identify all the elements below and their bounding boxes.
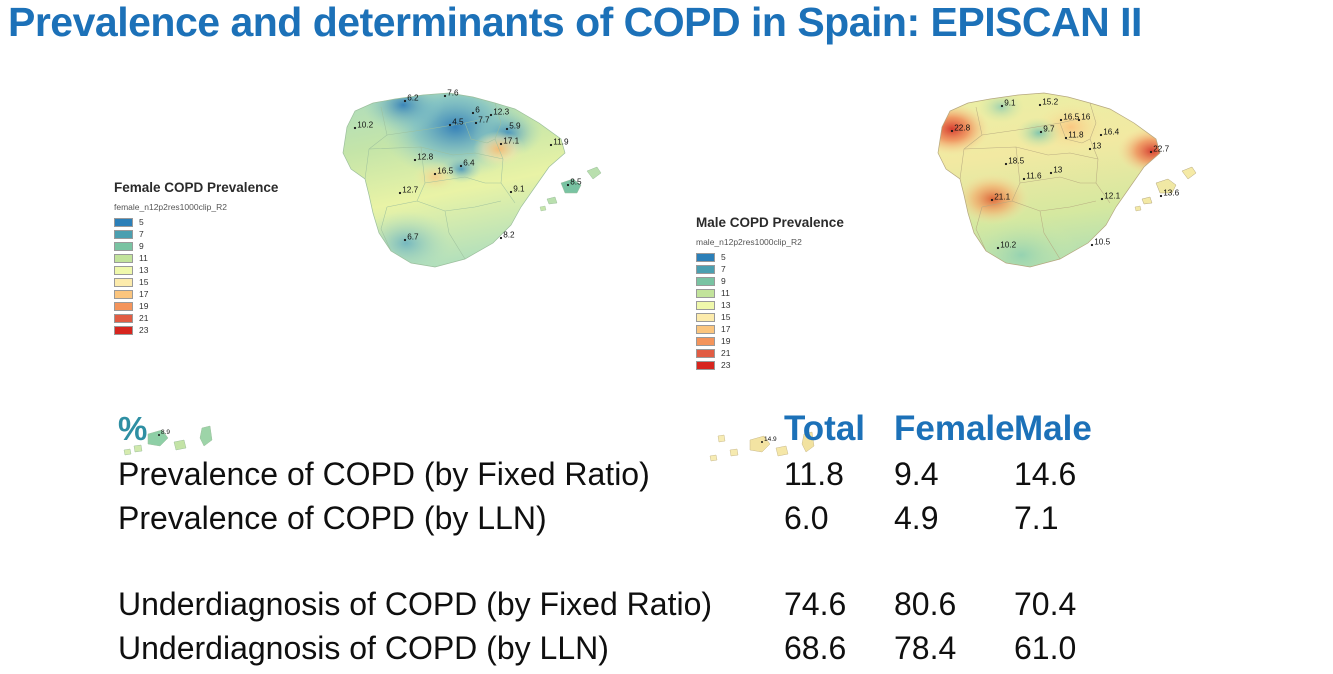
legend-row: 13: [114, 265, 278, 276]
row-male-value: 7.1: [1014, 496, 1124, 540]
map-point-value: 16: [1081, 112, 1091, 121]
map-point-marker: [567, 184, 569, 186]
map-point-marker: [434, 173, 436, 175]
map-point-marker: [1060, 119, 1062, 121]
map-point-value: 13: [1053, 165, 1063, 174]
map-point-value: 10.5: [1094, 237, 1110, 246]
map-point-marker: [1001, 105, 1003, 107]
map-point-value: 11.6: [1026, 171, 1042, 180]
map-point-value: 8.5: [570, 177, 582, 186]
map-point-marker: [404, 100, 406, 102]
legend-value-label: 9: [721, 277, 726, 286]
map-point-value: 7.6: [447, 88, 459, 97]
map-point-value: 22.8: [954, 123, 970, 132]
legend-row: 9: [696, 276, 844, 287]
map-point-marker: [510, 191, 512, 193]
legend-row: 11: [696, 288, 844, 299]
female-prevalence-map: 10.26.27.664.57.712.35.917.111.912.816.5…: [325, 83, 615, 283]
row-male-value: 14.6: [1014, 452, 1124, 496]
row-total-value: 74.6: [784, 582, 894, 626]
map-point-value: 21.1: [994, 192, 1010, 201]
map-point-value: 9.7: [1043, 124, 1055, 133]
row-female-value: 4.9: [894, 496, 1014, 540]
map-point-value: 10.2: [1000, 240, 1016, 249]
legend-color-swatch: [114, 314, 133, 324]
map-point-value: 15.2: [1042, 97, 1058, 106]
map-point-value: 12.1: [1104, 191, 1120, 200]
legend-color-swatch: [696, 253, 715, 263]
map-point-value: 5.9: [509, 121, 521, 130]
percent-cell: %: [118, 408, 784, 450]
legend-row: 7: [696, 264, 844, 275]
map-point-marker: [444, 95, 446, 97]
map-point-value: 12.7: [402, 185, 418, 194]
legend-value-label: 15: [721, 313, 730, 322]
table-row: Underdiagnosis of COPD (by Fixed Ratio) …: [118, 582, 1128, 626]
legend-color-swatch: [114, 278, 133, 288]
map-point-value: 6.4: [463, 158, 475, 167]
map-point-value: 11.9: [553, 137, 569, 146]
map-point-value: 4.5: [452, 117, 464, 126]
legend-row: 15: [114, 277, 278, 288]
row-label: Underdiagnosis of COPD (by Fixed Ratio): [118, 582, 784, 626]
legend-color-swatch: [696, 349, 715, 359]
map-point-marker: [414, 159, 416, 161]
row-label: Underdiagnosis of COPD (by LLN): [118, 626, 784, 670]
map-point-marker: [991, 199, 993, 201]
legend-value-label: 13: [721, 301, 730, 310]
map-point-value: 7.7: [478, 115, 490, 124]
legend-color-swatch: [696, 301, 715, 311]
legend-value-label: 17: [721, 325, 730, 334]
map-point-marker: [1005, 163, 1007, 165]
map-point-value: 12.8: [417, 152, 433, 161]
female-legend-title: Female COPD Prevalence: [114, 180, 278, 195]
map-point-value: 10.2: [357, 120, 373, 129]
legend-color-swatch: [114, 218, 133, 228]
summary-table: % Total Female Male Prevalence of COPD (…: [118, 408, 1128, 670]
legend-value-label: 17: [139, 290, 148, 299]
legend-row: 19: [696, 336, 844, 347]
row-male-value: 61.0: [1014, 626, 1124, 670]
map-point-marker: [1101, 198, 1103, 200]
table-row: Prevalence of COPD (by LLN) 6.0 4.9 7.1: [118, 496, 1128, 540]
map-point-value: 8.2: [503, 230, 515, 239]
map-point-marker: [1039, 104, 1041, 106]
map-point-marker: [1091, 244, 1093, 246]
page-title: Prevalence and determinants of COPD in S…: [8, 0, 1333, 48]
row-total-value: 68.6: [784, 626, 894, 670]
map-point-value: 6.2: [407, 93, 419, 102]
legend-value-label: 19: [721, 337, 730, 346]
female-map-panel: Female COPD Prevalence female_n12p2res10…: [100, 85, 620, 385]
map-point-marker: [404, 239, 406, 241]
map-point-marker: [500, 143, 502, 145]
map-point-marker: [1078, 119, 1080, 121]
column-header-male: Male: [1014, 408, 1124, 450]
map-point-marker: [506, 128, 508, 130]
legend-color-swatch: [114, 266, 133, 276]
map-point-value: 6.7: [407, 232, 419, 241]
legend-color-swatch: [114, 254, 133, 264]
map-point-marker: [399, 192, 401, 194]
legend-value-label: 11: [721, 289, 730, 298]
column-header-female: Female: [894, 408, 1014, 450]
legend-value-label: 9: [139, 242, 144, 251]
map-point-marker: [1065, 137, 1067, 139]
map-point-marker: [1100, 134, 1102, 136]
map-point-value: 13.6: [1163, 188, 1179, 197]
male-map-panel: Male COPD Prevalence male_n12p2res1000cl…: [680, 85, 1210, 385]
legend-color-swatch: [114, 326, 133, 336]
legend-color-swatch: [696, 361, 715, 371]
legend-value-label: 19: [139, 302, 148, 311]
row-label: Prevalence of COPD (by Fixed Ratio): [118, 452, 784, 496]
legend-row: 11: [114, 253, 278, 264]
map-point-marker: [472, 112, 474, 114]
map-point-marker: [1150, 151, 1152, 153]
row-female-value: 78.4: [894, 626, 1014, 670]
map-point-marker: [997, 247, 999, 249]
row-label: Prevalence of COPD (by LLN): [118, 496, 784, 540]
map-point-value: 17.1: [503, 136, 519, 145]
map-point-value: 22.7: [1153, 144, 1169, 153]
map-point-marker: [951, 130, 953, 132]
row-female-value: 9.4: [894, 452, 1014, 496]
table-row: Underdiagnosis of COPD (by LLN) 68.6 78.…: [118, 626, 1128, 670]
row-male-value: 70.4: [1014, 582, 1124, 626]
legend-row: 19: [114, 301, 278, 312]
legend-row: 21: [696, 348, 844, 359]
map-point-marker: [354, 127, 356, 129]
row-total-value: 11.8: [784, 452, 894, 496]
map-point-value: 16.5: [1063, 112, 1079, 121]
legend-color-swatch: [696, 325, 715, 335]
map-point-marker: [475, 122, 477, 124]
legend-value-label: 15: [139, 278, 148, 287]
legend-value-label: 13: [139, 266, 148, 275]
legend-row: 21: [114, 313, 278, 324]
table-row: Prevalence of COPD (by Fixed Ratio) 11.8…: [118, 452, 1128, 496]
map-point-marker: [1050, 172, 1052, 174]
legend-color-swatch: [114, 230, 133, 240]
legend-row: 15: [696, 312, 844, 323]
map-point-marker: [500, 237, 502, 239]
percent-symbol: %: [118, 410, 147, 447]
legend-value-label: 23: [721, 361, 730, 370]
map-point-value: 13: [1092, 141, 1102, 150]
map-point-value: 11.8: [1068, 130, 1084, 139]
legend-value-label: 21: [139, 314, 148, 323]
column-header-total: Total: [784, 408, 894, 450]
legend-value-label: 7: [139, 230, 144, 239]
legend-row: 9: [114, 241, 278, 252]
legend-color-swatch: [696, 289, 715, 299]
male-legend-rows: 57911131517192123: [696, 252, 844, 371]
legend-color-swatch: [696, 265, 715, 275]
female-map-legend: Female COPD Prevalence female_n12p2res10…: [114, 180, 278, 336]
row-total-value: 6.0: [784, 496, 894, 540]
map-point-marker: [1160, 195, 1162, 197]
map-point-marker: [550, 144, 552, 146]
map-point-value: 6: [475, 105, 480, 114]
legend-row: 5: [114, 217, 278, 228]
map-point-marker: [1023, 178, 1025, 180]
map-point-marker: [490, 114, 492, 116]
map-point-value: 9.1: [513, 184, 525, 193]
male-map-legend: Male COPD Prevalence male_n12p2res1000cl…: [696, 215, 844, 371]
legend-color-swatch: [696, 277, 715, 287]
male-legend-title: Male COPD Prevalence: [696, 215, 844, 230]
legend-color-swatch: [696, 337, 715, 347]
legend-row: 13: [696, 300, 844, 311]
legend-row: 17: [696, 324, 844, 335]
table-row-spacer: [118, 540, 1128, 582]
legend-value-label: 21: [721, 349, 730, 358]
female-balearic-islands: [540, 167, 601, 211]
map-point-marker: [1040, 131, 1042, 133]
legend-row: 7: [114, 229, 278, 240]
legend-row: 17: [114, 289, 278, 300]
legend-row: 5: [696, 252, 844, 263]
legend-color-swatch: [114, 302, 133, 312]
table-header-row: % Total Female Male: [118, 408, 1128, 452]
female-legend-subtitle: female_n12p2res1000clip_R2: [114, 202, 278, 212]
legend-value-label: 23: [139, 326, 148, 335]
male-legend-subtitle: male_n12p2res1000clip_R2: [696, 237, 844, 247]
map-point-value: 16.4: [1103, 127, 1119, 136]
male-prevalence-map: 22.89.115.216.5169.711.816.41322.718.511…: [920, 83, 1210, 283]
map-point-value: 16.5: [437, 166, 453, 175]
legend-value-label: 5: [139, 218, 144, 227]
legend-value-label: 5: [721, 253, 726, 262]
map-point-value: 18.5: [1008, 156, 1024, 165]
map-point-marker: [449, 124, 451, 126]
map-point-value: 12.3: [493, 107, 509, 116]
legend-value-label: 11: [139, 254, 148, 263]
row-female-value: 80.6: [894, 582, 1014, 626]
legend-color-swatch: [114, 290, 133, 300]
female-legend-rows: 57911131517192123: [114, 217, 278, 336]
legend-row: 23: [114, 325, 278, 336]
legend-color-swatch: [114, 242, 133, 252]
map-point-marker: [460, 165, 462, 167]
map-point-value: 9.1: [1004, 98, 1016, 107]
legend-value-label: 7: [721, 265, 726, 274]
map-point-marker: [1089, 148, 1091, 150]
legend-row: 23: [696, 360, 844, 371]
legend-color-swatch: [696, 313, 715, 323]
